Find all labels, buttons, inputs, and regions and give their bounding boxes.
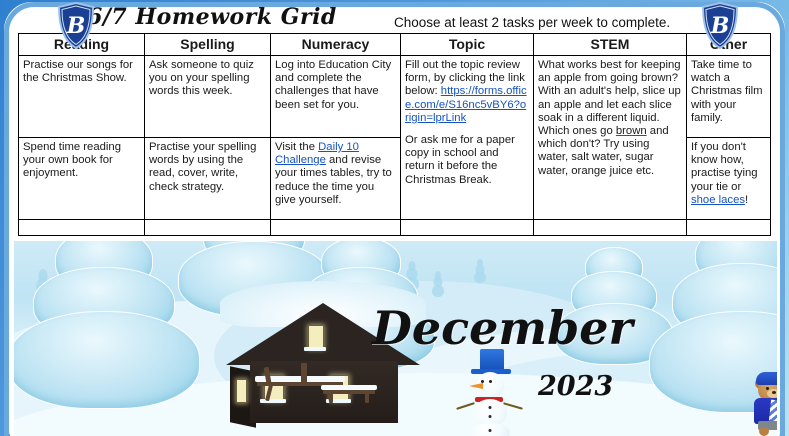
school-bear-mascot bbox=[747, 367, 777, 436]
spacer-cell bbox=[145, 220, 271, 236]
homework-grid-page: P6/7 Homework Grid Choose at least 2 tas… bbox=[0, 0, 789, 436]
spacer-cell bbox=[19, 220, 145, 236]
shoe-laces-link[interactable]: shoe laces bbox=[691, 194, 745, 206]
table-post bbox=[301, 363, 307, 383]
homework-grid-table: Reading Spelling Numeracy Topic STEM Oth… bbox=[18, 33, 771, 236]
bear-eye bbox=[766, 387, 769, 390]
snowman-eye bbox=[489, 380, 492, 383]
window-sill-snow bbox=[304, 347, 326, 351]
table-header-row: Reading Spelling Numeracy Topic STEM Oth… bbox=[19, 34, 771, 56]
bear-leg bbox=[759, 428, 769, 436]
cell-stem: What works best for keeping an apple fro… bbox=[534, 56, 687, 220]
bench-leg bbox=[365, 393, 369, 403]
spacer-cell bbox=[271, 220, 401, 236]
snowman bbox=[455, 349, 525, 436]
cell-reading-2: Spend time reading your own book for enj… bbox=[19, 138, 145, 220]
bear-striped-tie bbox=[769, 400, 777, 422]
snowman-arm bbox=[456, 402, 475, 410]
spacer-cell bbox=[401, 220, 534, 236]
svg-text:B: B bbox=[66, 13, 86, 39]
cell-other-1: Take time to watch a Christmas film with… bbox=[687, 56, 771, 138]
column-header-stem: STEM bbox=[534, 34, 687, 56]
column-header-topic: Topic bbox=[401, 34, 534, 56]
cell-numeracy-1: Log into Education City and complete the… bbox=[271, 56, 401, 138]
page-title: P6/7 Homework Grid bbox=[70, 4, 337, 30]
cell-spelling-1: Ask someone to quiz you on your spelling… bbox=[145, 56, 271, 138]
bear-nose bbox=[772, 391, 776, 394]
bear-cap-icon bbox=[756, 372, 777, 385]
year-label: 2023 bbox=[538, 371, 613, 402]
other-post-text: ! bbox=[745, 194, 748, 206]
column-header-numeracy: Numeracy bbox=[271, 34, 401, 56]
topic-spacer bbox=[405, 125, 529, 134]
snowman-button bbox=[489, 415, 492, 418]
carrot-nose-icon bbox=[469, 383, 483, 389]
spacer-cell bbox=[534, 220, 687, 236]
topic-outro-text: Or ask me for a paper copy in school and… bbox=[405, 134, 515, 186]
school-badge-icon-left: B bbox=[56, 2, 96, 49]
bench-leg bbox=[329, 393, 333, 403]
numeracy-pre-text: Visit the bbox=[275, 141, 318, 153]
cabin-window-icon bbox=[308, 325, 324, 349]
instruction-text: Choose at least 2 tasks per week to comp… bbox=[394, 15, 670, 30]
table-row: Practise our songs for the Christmas Sho… bbox=[19, 56, 771, 138]
other-pre-text: If you don't know how, practise tying yo… bbox=[691, 141, 758, 193]
cell-reading-1: Practise our songs for the Christmas Sho… bbox=[19, 56, 145, 138]
cell-topic: Fill out the topic review form, by click… bbox=[401, 56, 534, 220]
distant-pine-tree-icon bbox=[474, 259, 486, 283]
cell-other-2: If you don't know how, practise tying yo… bbox=[687, 138, 771, 220]
spacer-cell bbox=[687, 220, 771, 236]
month-label: December bbox=[372, 301, 633, 355]
winter-scene-image: December 2023 bbox=[14, 241, 777, 436]
svg-text:B: B bbox=[710, 13, 730, 39]
cell-spelling-2: Practise your spelling words by using th… bbox=[145, 138, 271, 220]
stem-underlined-word: brown bbox=[616, 125, 647, 137]
snowman-button bbox=[489, 429, 492, 432]
column-header-spelling: Spelling bbox=[145, 34, 271, 56]
table-leg bbox=[265, 385, 273, 401]
school-badge-icon-right: B bbox=[700, 2, 740, 49]
table-spacer-row bbox=[19, 220, 771, 236]
picnic-table bbox=[257, 355, 377, 405]
snowman-button bbox=[489, 406, 492, 409]
bench-snow bbox=[321, 385, 377, 390]
cell-numeracy-2: Visit the Daily 10 Challenge and revise … bbox=[271, 138, 401, 220]
cabin-window-icon bbox=[236, 379, 247, 403]
